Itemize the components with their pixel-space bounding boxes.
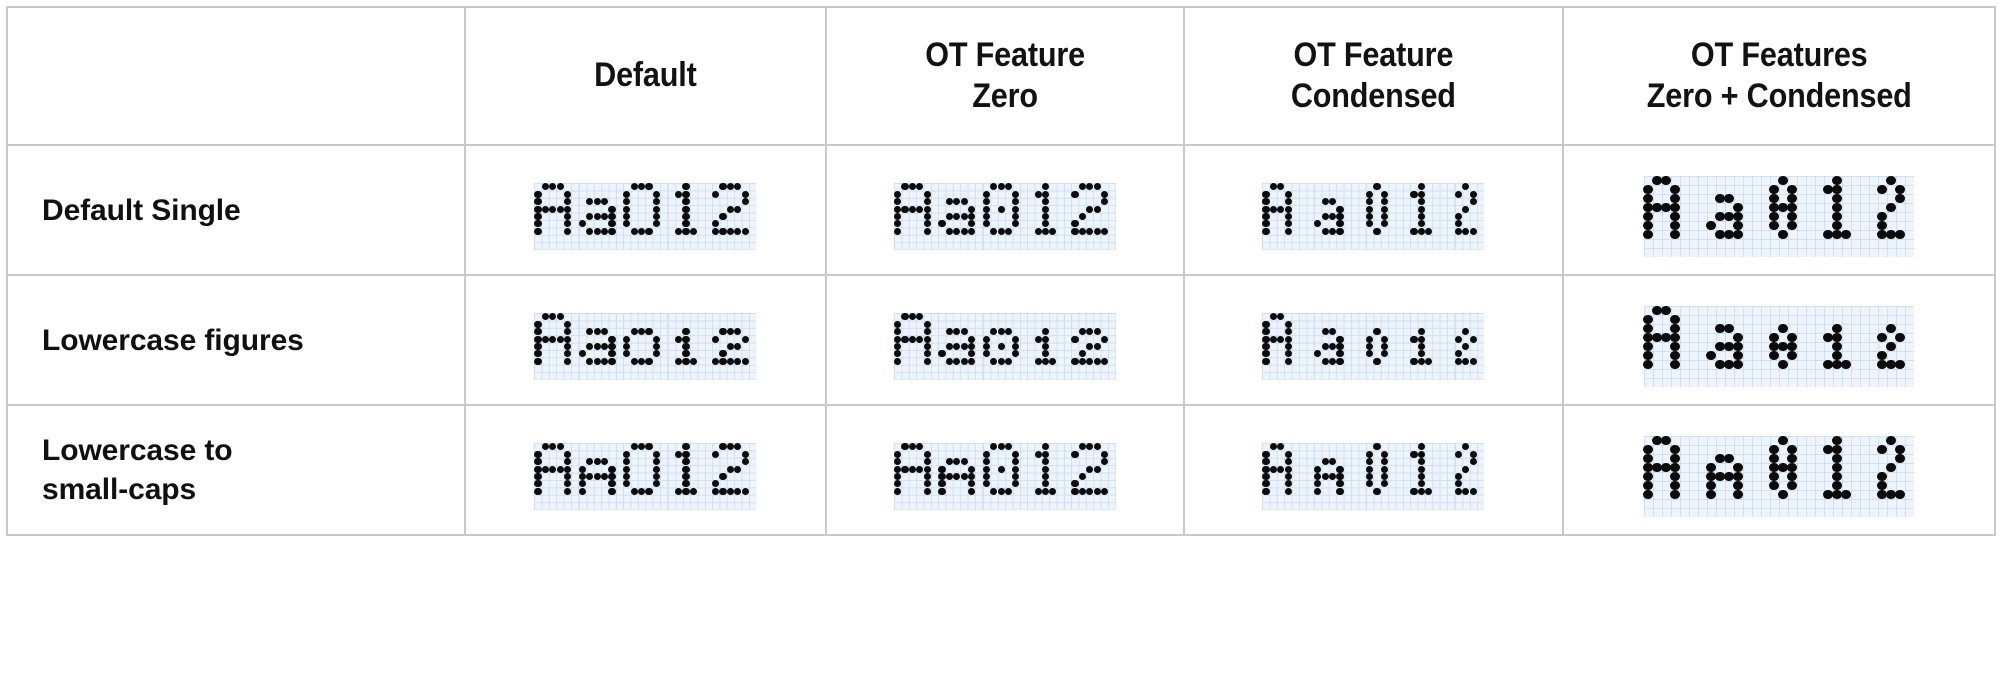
dot-matrix-glyph — [894, 313, 938, 380]
glyph-dot — [1381, 336, 1388, 343]
glyph-dot — [734, 328, 741, 335]
glyph-dot — [742, 228, 749, 235]
glyph-dot — [1895, 185, 1905, 195]
glyph-dot — [1787, 445, 1797, 455]
glyph-dot — [1643, 454, 1653, 464]
glyph-dot — [1733, 342, 1743, 352]
glyph-dot — [1895, 490, 1905, 500]
glyph-dot — [924, 213, 931, 220]
glyph-dot — [623, 466, 630, 473]
glyph-dot — [1733, 203, 1743, 213]
glyph-dot — [938, 466, 945, 473]
glyph-dot — [968, 220, 975, 227]
glyph-dot — [1895, 333, 1905, 343]
glyph-dot — [579, 480, 586, 487]
specimen-default-single-zero — [894, 183, 1116, 250]
glyph-dot — [1049, 228, 1056, 235]
glyph-dot — [998, 466, 1005, 473]
glyph-dot — [1661, 306, 1671, 316]
glyph-dot — [1418, 458, 1425, 465]
glyph-dot — [734, 488, 741, 495]
glyph-dot — [653, 213, 660, 220]
glyph-dot — [623, 336, 630, 343]
glyph-dot — [1314, 350, 1321, 357]
glyph-dot — [1314, 480, 1321, 487]
dot-matrix-glyph — [1878, 436, 1914, 517]
glyph-dot — [1071, 480, 1078, 487]
glyph-dot — [1322, 198, 1329, 205]
glyph-dot — [734, 228, 741, 235]
glyph-dot — [1042, 480, 1049, 487]
glyph-dot — [1670, 194, 1680, 204]
glyph-dot — [631, 443, 638, 450]
glyph-dot — [1329, 343, 1336, 350]
glyph-dot — [682, 183, 689, 190]
glyph-dot — [1071, 220, 1078, 227]
glyph-dot — [542, 336, 549, 343]
glyph-dot — [534, 480, 541, 487]
glyph-dot — [564, 466, 571, 473]
glyph-dot — [1329, 228, 1336, 235]
glyph-dot — [1086, 443, 1093, 450]
glyph-dot — [712, 488, 719, 495]
dot-matrix-glyph — [1027, 443, 1071, 510]
glyph-dot — [1778, 360, 1788, 370]
glyph-dot — [1366, 206, 1373, 213]
glyph-dot — [1042, 350, 1049, 357]
dot-matrix-glyph — [534, 443, 578, 510]
dot-matrix-glyph — [534, 313, 578, 380]
glyph-dot — [1643, 324, 1653, 334]
glyph-dot — [1285, 336, 1292, 343]
glyph-dot — [1418, 183, 1425, 190]
glyph-dot — [645, 328, 652, 335]
glyph-dot — [1366, 466, 1373, 473]
glyph-dot — [601, 228, 608, 235]
glyph-dot — [1086, 343, 1093, 350]
glyph-dot — [1336, 358, 1343, 365]
dot-matrix-glyph — [1071, 313, 1115, 380]
glyph-dot — [653, 336, 660, 343]
glyph-dot — [1336, 206, 1343, 213]
glyph-dot — [1787, 342, 1797, 352]
glyph-dot — [938, 488, 945, 495]
glyph-dot — [1410, 488, 1417, 495]
glyph-dot — [894, 350, 901, 357]
glyph-dot — [1262, 198, 1269, 205]
glyph-dot — [1086, 466, 1093, 473]
glyph-dot — [594, 458, 601, 465]
glyph-dot — [1042, 343, 1049, 350]
glyph-dot — [579, 473, 586, 480]
glyph-dot — [1262, 358, 1269, 365]
glyph-dot — [938, 473, 945, 480]
glyph-dot — [1042, 336, 1049, 343]
glyph-dot — [1733, 463, 1743, 473]
glyph-dot — [586, 228, 593, 235]
glyph-dot — [1101, 191, 1108, 198]
glyph-dot — [534, 466, 541, 473]
glyph-dot — [727, 488, 734, 495]
glyph-dot — [1670, 315, 1680, 325]
glyph-dot — [1643, 342, 1653, 352]
glyph-dot — [1285, 458, 1292, 465]
glyph-dot — [1277, 183, 1284, 190]
glyph-dot — [1012, 336, 1019, 343]
glyph-dot — [990, 358, 997, 365]
glyph-dot — [998, 488, 1005, 495]
glyph-dot — [1418, 358, 1425, 365]
glyph-dot — [734, 343, 741, 350]
glyph-dot — [1079, 358, 1086, 365]
glyph-dot — [1733, 221, 1743, 231]
glyph-dot — [675, 488, 682, 495]
glyph-dot — [946, 228, 953, 235]
glyph-dot — [608, 350, 615, 357]
glyph-dot — [1262, 451, 1269, 458]
glyph-dot — [719, 350, 726, 357]
glyph-dot — [534, 336, 541, 343]
glyph-dot — [1787, 194, 1797, 204]
glyph-dot — [916, 313, 923, 320]
glyph-dot — [601, 328, 608, 335]
dot-matrix-glyph — [983, 183, 1027, 250]
glyph-dot — [968, 336, 975, 343]
glyph-dot — [557, 313, 564, 320]
glyph-dot — [1086, 328, 1093, 335]
dot-matrix-glyph — [1707, 176, 1770, 257]
glyph-dot — [901, 466, 908, 473]
dot-matrix-glyph — [1824, 306, 1878, 387]
dot-matrix-glyph — [938, 183, 982, 250]
glyph-dot — [1336, 228, 1343, 235]
glyph-dot — [631, 488, 638, 495]
glyph-dot — [1418, 206, 1425, 213]
dot-matrix-glyph — [1027, 183, 1071, 250]
glyph-dot — [894, 321, 901, 328]
specimen-cell-lowercase-figures-condensed — [1184, 275, 1563, 405]
glyph-dot — [1071, 451, 1078, 458]
glyph-dot — [1285, 220, 1292, 227]
glyph-dot — [1101, 198, 1108, 205]
glyph-dot — [1877, 185, 1887, 195]
glyph-dot — [1094, 358, 1101, 365]
glyph-dot — [1012, 480, 1019, 487]
glyph-dot — [719, 213, 726, 220]
glyph-dot — [1832, 481, 1842, 491]
glyph-dot — [1366, 213, 1373, 220]
glyph-dot — [534, 451, 541, 458]
row-label-cell-lowercase-to-small-caps: Lowercase to small-caps — [7, 405, 465, 535]
glyph-dot — [1086, 183, 1093, 190]
glyph-dot — [1643, 185, 1653, 195]
glyph-dot — [1094, 488, 1101, 495]
glyph-dot — [924, 480, 931, 487]
glyph-dot — [601, 198, 608, 205]
glyph-dot — [1778, 490, 1788, 500]
glyph-dot — [1733, 230, 1743, 240]
glyph-dot — [1455, 451, 1462, 458]
glyph-dot — [586, 358, 593, 365]
glyph-dot — [909, 466, 916, 473]
glyph-dot — [653, 343, 660, 350]
dot-matrix-glyph — [1314, 183, 1366, 250]
glyph-dot — [1733, 481, 1743, 491]
glyph-dot — [1832, 445, 1842, 455]
glyph-dot — [1262, 488, 1269, 495]
glyph-dot — [924, 458, 931, 465]
glyph-dot — [953, 198, 960, 205]
glyph-dot — [1086, 228, 1093, 235]
glyph-dot — [1005, 228, 1012, 235]
table-row: Lowercase figures — [7, 275, 1995, 405]
dot-matrix-glyph — [1027, 313, 1071, 380]
glyph-dot — [961, 473, 968, 480]
dot-matrix-glyph — [623, 313, 667, 380]
glyph-dot — [631, 183, 638, 190]
glyph-dot — [946, 343, 953, 350]
glyph-dot — [1643, 472, 1653, 482]
glyph-dot — [1418, 336, 1425, 343]
glyph-dot — [719, 328, 726, 335]
glyph-dot — [1336, 343, 1343, 350]
glyph-dot — [1724, 454, 1734, 464]
table-header-row: Default OT Feature Zero OT Feature Conde… — [7, 7, 1995, 145]
glyph-dot — [1277, 466, 1284, 473]
glyph-dot — [1886, 436, 1896, 446]
glyph-dot — [1322, 343, 1329, 350]
glyph-dot — [1035, 358, 1042, 365]
glyph-dot — [1381, 466, 1388, 473]
glyph-dot — [1706, 463, 1716, 473]
glyph-dot — [1877, 445, 1887, 455]
row-label-default-single: Default Single — [8, 191, 464, 230]
glyph-dot — [1895, 360, 1905, 370]
glyph-dot — [1706, 351, 1716, 361]
glyph-dot — [1035, 336, 1042, 343]
glyph-dot — [734, 443, 741, 450]
glyph-dot — [1071, 488, 1078, 495]
glyph-dot — [1012, 343, 1019, 350]
glyph-dot — [1706, 221, 1716, 231]
glyph-dot — [653, 451, 660, 458]
glyph-dot — [1035, 488, 1042, 495]
dot-matrix-glyph — [1824, 176, 1878, 257]
glyph-dot — [1262, 321, 1269, 328]
glyph-dot — [961, 198, 968, 205]
glyph-dot — [608, 228, 615, 235]
glyph-dot — [1832, 176, 1842, 186]
specimen-cell-default-single-zero-condensed — [1563, 145, 1995, 275]
glyph-dot — [719, 183, 726, 190]
specimen-lowercase-to-small-caps-default — [534, 443, 756, 510]
glyph-dot — [1670, 221, 1680, 231]
dot-matrix-glyph — [983, 313, 1027, 380]
glyph-dot — [1012, 220, 1019, 227]
glyph-dot — [946, 328, 953, 335]
glyph-dot — [1410, 191, 1417, 198]
glyph-dot — [1042, 191, 1049, 198]
glyph-dot — [1071, 228, 1078, 235]
glyph-dot — [1470, 198, 1477, 205]
glyph-dot — [1462, 466, 1469, 473]
glyph-dot — [1778, 436, 1788, 446]
glyph-dot — [712, 220, 719, 227]
glyph-dot — [990, 488, 997, 495]
glyph-dot — [1670, 230, 1680, 240]
glyph-dot — [983, 206, 990, 213]
glyph-dot — [1381, 213, 1388, 220]
glyph-dot — [1094, 343, 1101, 350]
dot-matrix-glyph — [579, 183, 623, 250]
glyph-dot — [1787, 333, 1797, 343]
glyph-dot — [638, 358, 645, 365]
glyph-dot — [727, 343, 734, 350]
glyph-dot — [1643, 481, 1653, 491]
glyph-dot — [894, 358, 901, 365]
glyph-dot — [1277, 206, 1284, 213]
glyph-dot — [645, 228, 652, 235]
glyph-dot — [1012, 206, 1019, 213]
glyph-dot — [542, 443, 549, 450]
glyph-dot — [968, 473, 975, 480]
glyph-dot — [1285, 198, 1292, 205]
glyph-dot — [1262, 213, 1269, 220]
dot-matrix-glyph — [1455, 183, 1485, 250]
glyph-dot — [1373, 443, 1380, 450]
glyph-dot — [1769, 454, 1779, 464]
glyph-dot — [894, 473, 901, 480]
glyph-dot — [1470, 358, 1477, 365]
glyph-dot — [653, 466, 660, 473]
dot-matrix-glyph — [1262, 313, 1314, 380]
glyph-dot — [946, 213, 953, 220]
glyph-dot — [1262, 336, 1269, 343]
specimen-lowercase-figures-default — [534, 313, 756, 380]
glyph-dot — [623, 213, 630, 220]
glyph-dot — [1778, 230, 1788, 240]
glyph-dot — [542, 206, 549, 213]
glyph-dot — [1285, 191, 1292, 198]
glyph-dot — [983, 480, 990, 487]
glyph-dot — [894, 198, 901, 205]
glyph-dot — [534, 321, 541, 328]
glyph-dot — [916, 443, 923, 450]
glyph-dot — [727, 228, 734, 235]
glyph-dot — [1322, 213, 1329, 220]
glyph-dot — [924, 343, 931, 350]
glyph-dot — [1079, 328, 1086, 335]
glyph-dot — [1012, 451, 1019, 458]
glyph-dot — [534, 458, 541, 465]
glyph-dot — [1336, 466, 1343, 473]
glyph-dot — [675, 191, 682, 198]
glyph-dot — [1733, 490, 1743, 500]
glyph-dot — [549, 183, 556, 190]
glyph-dot — [1366, 451, 1373, 458]
glyph-dot — [1733, 472, 1743, 482]
glyph-dot — [557, 466, 564, 473]
glyph-dot — [1079, 488, 1086, 495]
glyph-dot — [542, 466, 549, 473]
glyph-dot — [1336, 350, 1343, 357]
glyph-dot — [1366, 458, 1373, 465]
glyph-dot — [1886, 324, 1896, 334]
specimen-lowercase-figures-zero-condensed — [1644, 306, 1914, 387]
glyph-dot — [1079, 228, 1086, 235]
glyph-dot — [579, 350, 586, 357]
glyph-dot — [1670, 324, 1680, 334]
glyph-dot — [1841, 490, 1851, 500]
glyph-dot — [1462, 343, 1469, 350]
glyph-dot — [682, 358, 689, 365]
glyph-dot — [924, 451, 931, 458]
glyph-dot — [1005, 183, 1012, 190]
dot-matrix-glyph — [1770, 306, 1824, 387]
glyph-dot — [1787, 454, 1797, 464]
glyph-dot — [924, 488, 931, 495]
glyph-dot — [1787, 472, 1797, 482]
glyph-dot — [1895, 454, 1905, 464]
specimen-lowercase-to-small-caps-zero — [894, 443, 1116, 510]
glyph-dot — [1101, 451, 1108, 458]
glyph-dot — [983, 191, 990, 198]
glyph-dot — [682, 443, 689, 450]
glyph-dot — [1462, 206, 1469, 213]
glyph-dot — [682, 198, 689, 205]
dot-matrix-glyph — [1071, 183, 1115, 250]
glyph-dot — [1270, 206, 1277, 213]
glyph-dot — [1336, 213, 1343, 220]
glyph-dot — [953, 358, 960, 365]
glyph-dot — [653, 350, 660, 357]
glyph-dot — [1042, 198, 1049, 205]
glyph-dot — [534, 350, 541, 357]
dot-matrix-glyph — [712, 183, 756, 250]
glyph-dot — [961, 213, 968, 220]
column-header-zero-condensed-label: OT Features Zero + Condensed — [1585, 35, 1972, 118]
dot-matrix-glyph — [1410, 183, 1454, 250]
glyph-dot — [1366, 198, 1373, 205]
glyph-dot — [1381, 220, 1388, 227]
glyph-dot — [742, 488, 749, 495]
dot-matrix-glyph — [579, 313, 623, 380]
glyph-dot — [961, 343, 968, 350]
glyph-dot — [1462, 183, 1469, 190]
glyph-dot — [623, 343, 630, 350]
glyph-dot — [1877, 212, 1887, 222]
glyph-dot — [1262, 328, 1269, 335]
glyph-dot — [1643, 351, 1653, 361]
glyph-dot — [1470, 191, 1477, 198]
glyph-dot — [608, 213, 615, 220]
glyph-dot — [1670, 463, 1680, 473]
specimen-cell-lowercase-to-small-caps-condensed — [1184, 405, 1563, 535]
glyph-dot — [557, 443, 564, 450]
glyph-dot — [1012, 213, 1019, 220]
glyph-dot — [1262, 220, 1269, 227]
glyph-dot — [1841, 360, 1851, 370]
glyph-dot — [734, 206, 741, 213]
glyph-dot — [742, 336, 749, 343]
glyph-dot — [594, 343, 601, 350]
glyph-dot — [894, 206, 901, 213]
glyph-dot — [1366, 480, 1373, 487]
glyph-dot — [1832, 185, 1842, 195]
glyph-dot — [1042, 473, 1049, 480]
glyph-dot — [1462, 228, 1469, 235]
glyph-dot — [938, 480, 945, 487]
